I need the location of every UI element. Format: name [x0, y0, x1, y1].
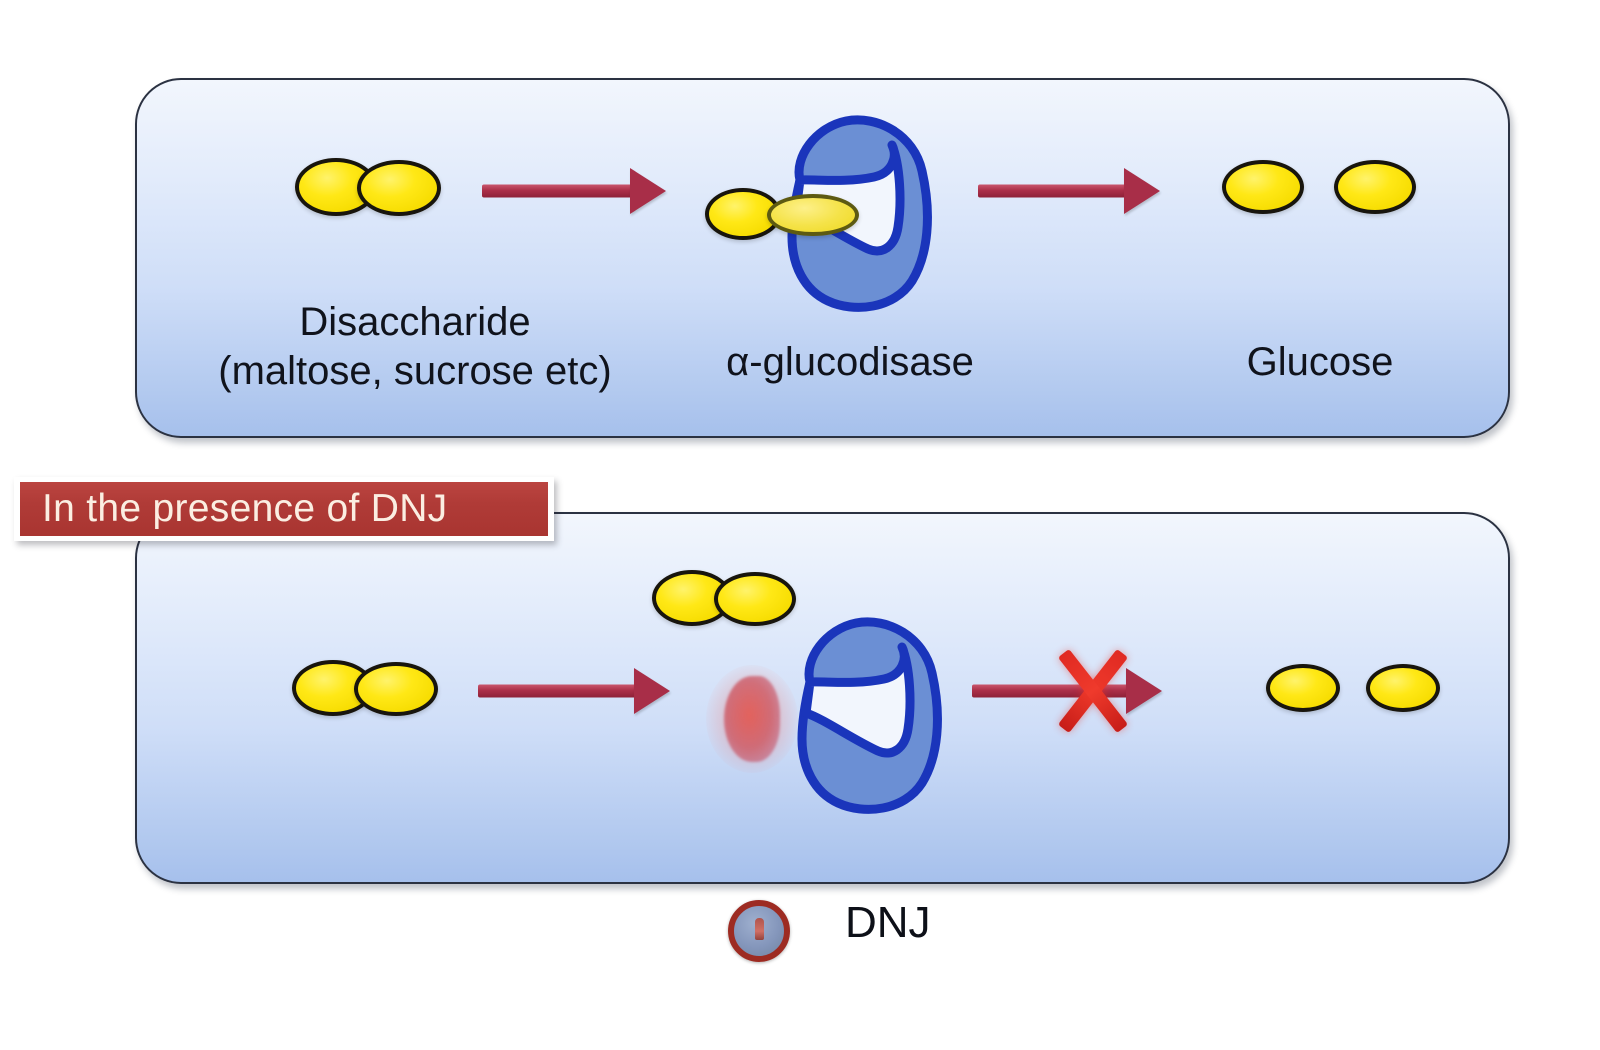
arrow-substrate-to-enzyme-dnj	[478, 668, 678, 714]
arrow-shaft	[478, 685, 646, 698]
diagram-canvas: Disaccharide(maltose, sucrose etc) α-glu…	[0, 0, 1600, 1050]
product-glucose-dnj	[1266, 664, 1446, 716]
dnj-condition-banner-text: In the presence of DNJ	[42, 487, 447, 531]
arrow-head	[634, 668, 670, 714]
sugar-unit	[357, 160, 441, 216]
dnj-bound-inhibitor	[724, 676, 780, 762]
arrow-head	[1124, 168, 1160, 214]
dnj-core	[755, 918, 764, 940]
substrate-disaccharide-dnj	[292, 660, 442, 718]
arrow-head	[630, 168, 666, 214]
sugar-unit	[1222, 160, 1304, 214]
arrow-enzyme-to-product-normal	[978, 168, 1168, 214]
arrow-shaft	[978, 185, 1134, 198]
dnj-condition-banner: In the presence of DNJ	[14, 477, 554, 541]
label-substrate-normal: Disaccharide(maltose, sucrose etc)	[145, 298, 685, 396]
label-product-normal: Glucose	[1145, 338, 1495, 387]
substrate-disaccharide-normal	[295, 158, 445, 218]
label-substrate-line2: (maltose, sucrose etc)	[218, 349, 611, 393]
dnj-legend-molecule-icon	[728, 900, 790, 962]
arrow-substrate-to-enzyme-normal	[482, 168, 672, 214]
arrow-shaft	[482, 185, 640, 198]
sugar-unit	[767, 194, 859, 236]
sugar-unit	[1266, 664, 1340, 712]
dnj-legend-label: DNJ	[845, 898, 931, 948]
label-enzyme-normal: α-glucodisase	[650, 338, 1050, 387]
sugar-unit	[1366, 664, 1440, 712]
reaction-blocked-x-icon	[1050, 648, 1136, 734]
sugar-unit	[354, 662, 438, 716]
label-substrate-line1: Disaccharide	[299, 300, 530, 344]
product-glucose-normal	[1222, 160, 1422, 218]
dnj-condition-banner-inner: In the presence of DNJ	[20, 482, 548, 536]
substrate-in-active-site	[705, 186, 880, 244]
sugar-unit	[1334, 160, 1416, 214]
